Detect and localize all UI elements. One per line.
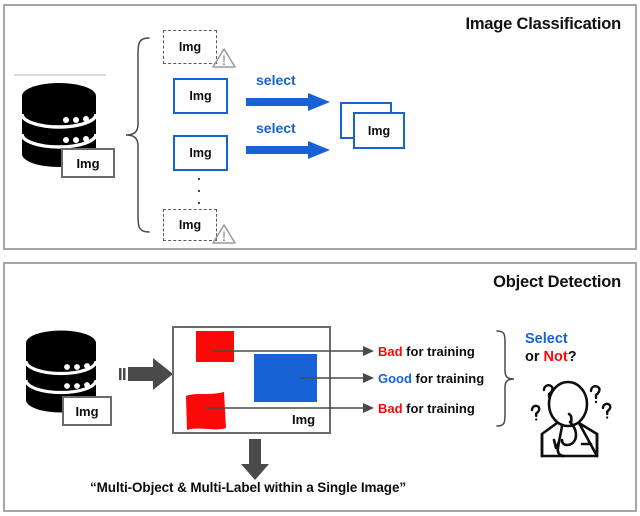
panel-title-object-detection: Object Detection [493,273,621,292]
candidate-img-selected-1[interactable]: Img [173,78,228,114]
summary-down-arrow [240,439,270,481]
select-label-2: select [256,120,296,136]
panel-title-image-classification: Image Classification [465,15,621,34]
select-arrow-2 [246,141,330,159]
warning-triangle-icon [211,222,237,246]
candidate-img-rejected-2[interactable]: Img [163,209,217,241]
candidate-img-rejected-1[interactable]: Img [163,30,217,64]
verdict-2-rest: for training [412,371,484,386]
summary-caption: “Multi-Object & Multi-Label within a Sin… [90,480,406,495]
brace-candidates [124,36,150,234]
decision-not-word: Not [544,349,568,365]
decision-question-mark: ? [568,349,577,365]
divider-rule [14,74,106,76]
verdict-2: Good for training [378,371,484,386]
verdict-1: Bad for training [378,344,475,359]
figure-root: Image Classification Img Img [0,0,640,516]
verdict-1-rest: for training [403,344,475,359]
selected-output-stack-front[interactable]: Img [353,112,405,149]
verdict-2-judgement: Good [378,371,412,386]
scene-img-label: Img [292,412,315,427]
connector-line-1 [213,345,375,357]
select-label-1: select [256,72,296,88]
thinking-person-icon [518,378,622,460]
database-img-label-bottom: Img [62,396,112,426]
candidate-img-selected-2[interactable]: Img [173,135,228,171]
database-img-label-top: Img [61,148,115,178]
warning-triangle-icon [211,46,237,70]
decision-prompt: Select or Not? [525,330,577,366]
verdict-3: Bad for training [378,401,475,416]
verdict-1-judgement: Bad [378,344,403,359]
brace-verdicts [495,329,515,428]
verdict-3-judgement: Bad [378,401,403,416]
feed-arrow [119,357,174,391]
decision-select-word: Select [525,331,568,347]
select-arrow-1 [246,93,330,111]
verdict-3-rest: for training [403,401,475,416]
connector-line-2 [300,372,375,384]
connector-line-3 [205,402,375,414]
ellipsis-dots [197,178,201,204]
decision-or-word: or [525,349,544,365]
